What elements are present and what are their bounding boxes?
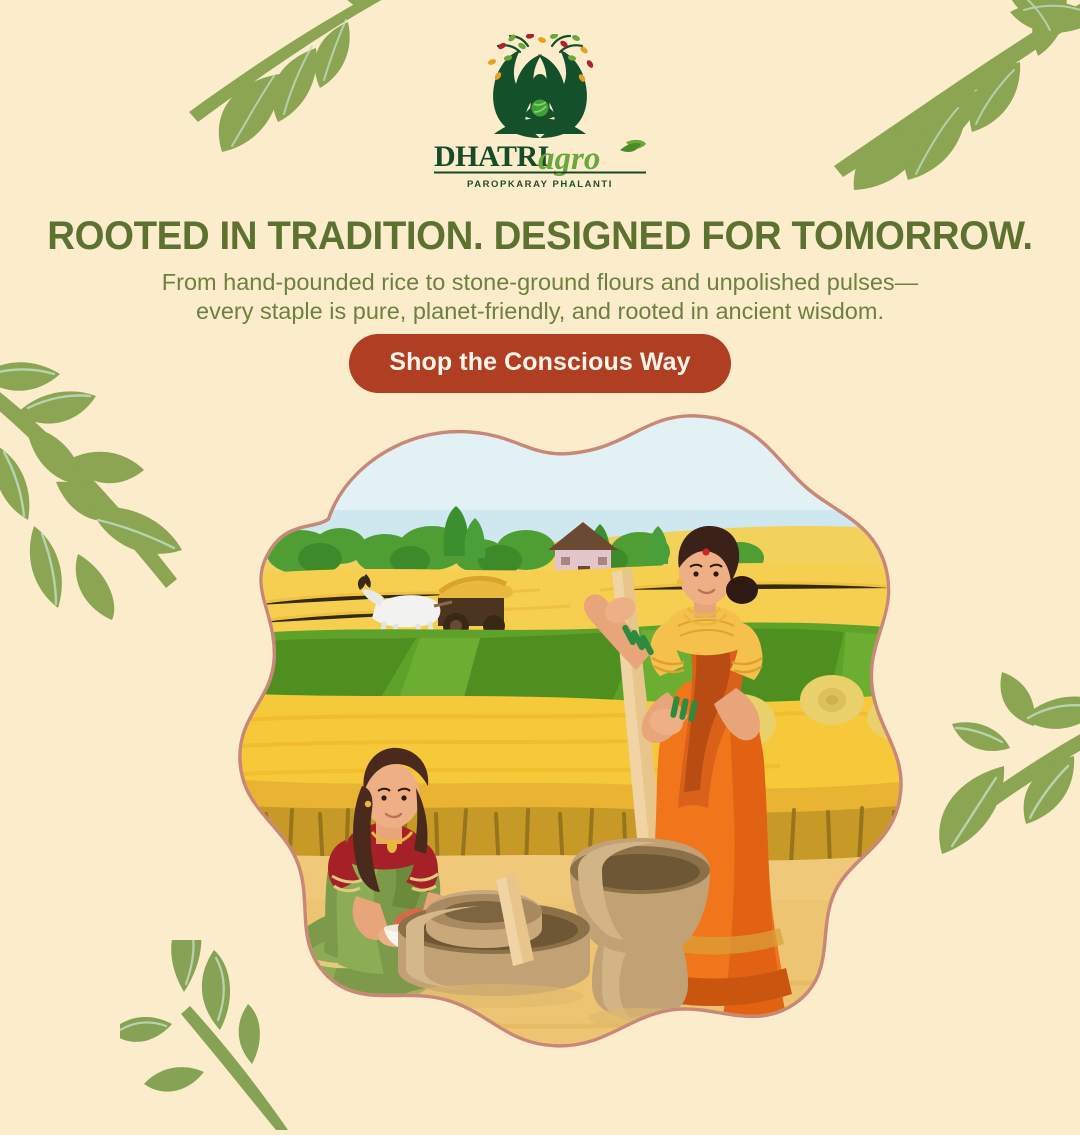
logo-tagline: PAROPKARAY PHALANTI bbox=[467, 179, 613, 190]
poster-root: DHATRI agro PAROPKARAY PHALANTI ROOTED I… bbox=[0, 0, 1080, 1080]
logo-brand-primary: DHATRI bbox=[434, 140, 549, 173]
tree-with-seated-figure-icon bbox=[476, 34, 604, 142]
hero-illustration bbox=[180, 400, 920, 1060]
leaf-branch-mid-right-icon bbox=[926, 650, 1080, 920]
page-subtitle: From hand-pounded rice to stone-ground f… bbox=[0, 268, 1080, 326]
cta-container: Shop the Conscious Way bbox=[0, 334, 1080, 393]
subtitle-line-2: every staple is pure, planet-friendly, a… bbox=[120, 297, 960, 326]
logo-wordmark: DHATRI agro bbox=[430, 136, 650, 180]
shop-cta-button[interactable]: Shop the Conscious Way bbox=[349, 334, 730, 393]
village-grain-processing-illustration bbox=[180, 400, 920, 1060]
page-title: ROOTED IN TRADITION. DESIGNED FOR TOMORR… bbox=[22, 214, 1059, 259]
brand-logo[interactable]: DHATRI agro PAROPKARAY PHALANTI bbox=[0, 34, 1080, 190]
subtitle-line-1: From hand-pounded rice to stone-ground f… bbox=[120, 268, 960, 297]
